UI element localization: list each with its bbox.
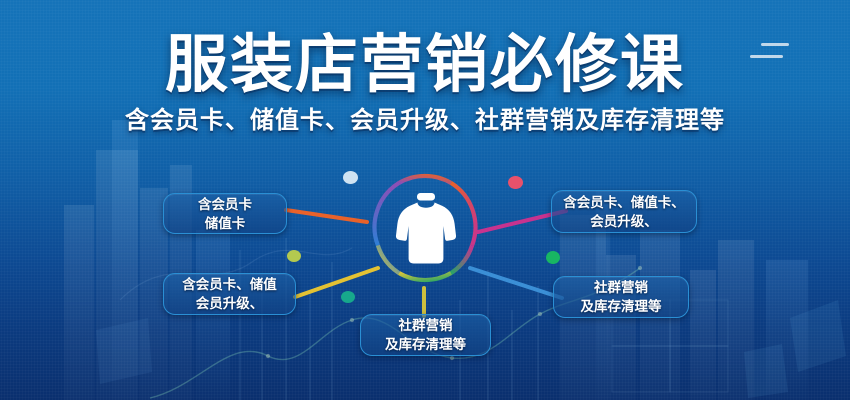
label-top-left-line1: 含会员卡: [198, 195, 252, 214]
dot-green: [546, 251, 560, 264]
center-hub: [367, 170, 483, 286]
label-top-left[interactable]: 含会员卡 储值卡: [163, 193, 287, 234]
connector-left-bottom: [295, 268, 378, 297]
connector-left-top: [286, 210, 367, 222]
label-top-right-line2: 会员升级、: [590, 212, 658, 231]
dot-olive: [287, 250, 301, 262]
sweater-icon: [395, 192, 457, 266]
dot-teal: [341, 291, 355, 303]
label-top-right[interactable]: 含会员卡、储值卡、 会员升级、: [551, 190, 697, 233]
label-bottom-right[interactable]: 社群营销 及库存清理等: [553, 276, 689, 318]
label-bottom-left-line2: 会员升级、: [196, 294, 264, 313]
promo-banner: 服装店营销必修课 含会员卡、储值卡、会员升级、社群营销及库存清理等: [0, 0, 850, 400]
label-bottom-right-line1: 社群营销: [594, 278, 648, 297]
dot-light-blue: [343, 171, 358, 184]
connector-right-bottom: [470, 268, 562, 298]
dot-pink: [508, 176, 523, 189]
label-top-left-line2: 储值卡: [205, 214, 246, 233]
label-bottom-left[interactable]: 含会员卡、储值 会员升级、: [163, 273, 296, 315]
label-bottom-center[interactable]: 社群营销 及库存清理等: [360, 314, 491, 356]
label-bottom-left-line1: 含会员卡、储值: [182, 275, 277, 294]
label-top-right-line1: 含会员卡、储值卡、: [563, 193, 685, 212]
label-bottom-center-line2: 及库存清理等: [385, 335, 466, 354]
label-bottom-right-line2: 及库存清理等: [581, 297, 662, 316]
label-bottom-center-line1: 社群营销: [399, 316, 453, 335]
